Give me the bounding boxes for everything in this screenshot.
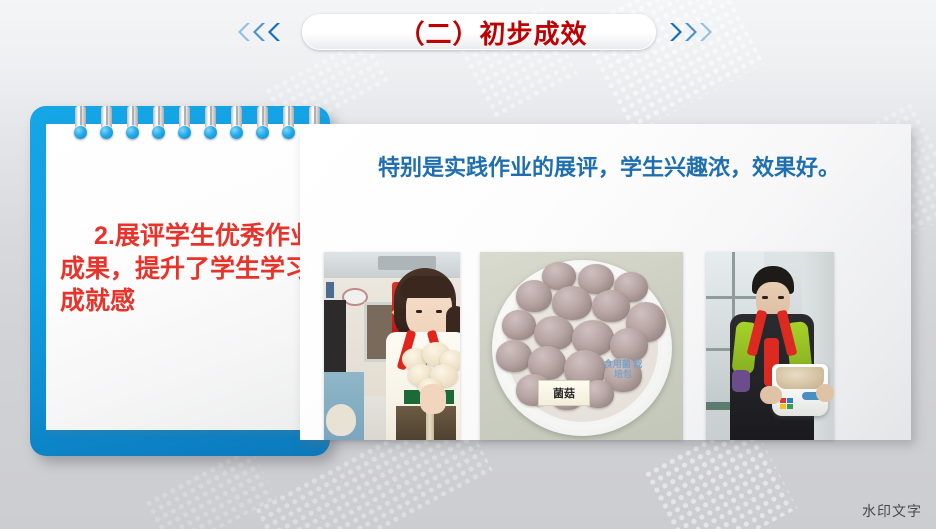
content-panel: 特别是实践作业的展评，学生兴趣浓，效果好。 — [300, 124, 911, 440]
spiral-ring-bead — [178, 126, 191, 139]
notebook-card: 2.展评学生优秀作业成果，提升了学生学习成就感 — [30, 106, 330, 456]
chevron-left-triple-icon — [236, 22, 280, 42]
photo-girl-holding-mushrooms[interactable]: GUCCI — [324, 252, 460, 440]
spiral-ring-bead — [282, 126, 295, 139]
chevron-left-icon — [251, 22, 265, 42]
slide-title-pill: （二）初步成效 — [302, 14, 656, 50]
spiral-ring-bead — [152, 126, 165, 139]
spiral-ring-icon — [204, 106, 217, 144]
photo-boy-holding-bucket[interactable] — [706, 252, 834, 440]
chevron-left-icon — [236, 22, 250, 42]
notebook-page: 2.展评学生优秀作业成果，提升了学生学习成就感 — [46, 124, 326, 430]
spiral-ring-icon — [100, 106, 113, 144]
photo3-mushroom-fill — [776, 367, 824, 389]
photo2-brand-text: 食用菌 栽培包 — [600, 360, 646, 394]
chevron-right-icon — [700, 22, 714, 42]
slide-header: （二）初步成效 — [0, 4, 936, 56]
photo1-hand — [420, 384, 446, 414]
chevron-left-icon — [266, 22, 280, 42]
photo3-hand — [760, 386, 782, 404]
photo3-eye — [778, 296, 784, 299]
spiral-ring-bead — [126, 126, 139, 139]
spiral-ring-icon — [282, 106, 295, 144]
photo2-label-text: 菌菇 — [538, 380, 590, 406]
spiral-ring-icon — [126, 106, 139, 144]
photo1-plush-toy — [326, 404, 356, 436]
photo1-bangs — [400, 276, 454, 298]
spiral-ring-row — [74, 106, 324, 146]
spiral-ring-bead — [74, 126, 87, 139]
spiral-ring-bead — [100, 126, 113, 139]
spiral-ring-icon — [74, 106, 87, 144]
spiral-ring-icon — [152, 106, 165, 144]
spiral-ring-bead — [256, 126, 269, 139]
photo3-bucket-logo — [780, 398, 794, 410]
photo1-girl-figure: GUCCI — [376, 268, 460, 440]
photo-row: GUCCI — [300, 124, 911, 440]
photo3-jacket-purple-panel — [732, 370, 750, 392]
chevron-right-icon — [670, 22, 684, 42]
chevron-right-icon — [685, 22, 699, 42]
spiral-ring-icon — [178, 106, 191, 144]
slide-canvas: （二）初步成效 2.展评学生优秀作业成果，提升了学生学习成就感 特别是实践作业的… — [0, 0, 936, 529]
spiral-ring-icon — [256, 106, 269, 144]
background-dot-pattern — [143, 445, 277, 529]
photo3-hand — [816, 384, 834, 402]
photo1-picture-frame — [324, 280, 336, 300]
photo1-eye — [436, 310, 442, 313]
photo-mushrooms-in-bucket[interactable]: 食用菌 栽培包 菌菇 — [480, 252, 683, 440]
photo3-boy-figure — [730, 266, 814, 440]
chevron-right-triple-icon — [670, 22, 714, 42]
photo1-eye — [416, 310, 422, 313]
page-title: （二）初步成效 — [370, 14, 587, 51]
spiral-ring-bead — [204, 126, 217, 139]
spiral-ring-bead — [230, 126, 243, 139]
notebook-body-text: 2.展评学生优秀作业成果，提升了学生学习成就感 — [60, 220, 316, 318]
spiral-ring-icon — [230, 106, 243, 144]
photo3-eye — [762, 296, 768, 299]
watermark-text: 水印文字 — [862, 501, 922, 521]
